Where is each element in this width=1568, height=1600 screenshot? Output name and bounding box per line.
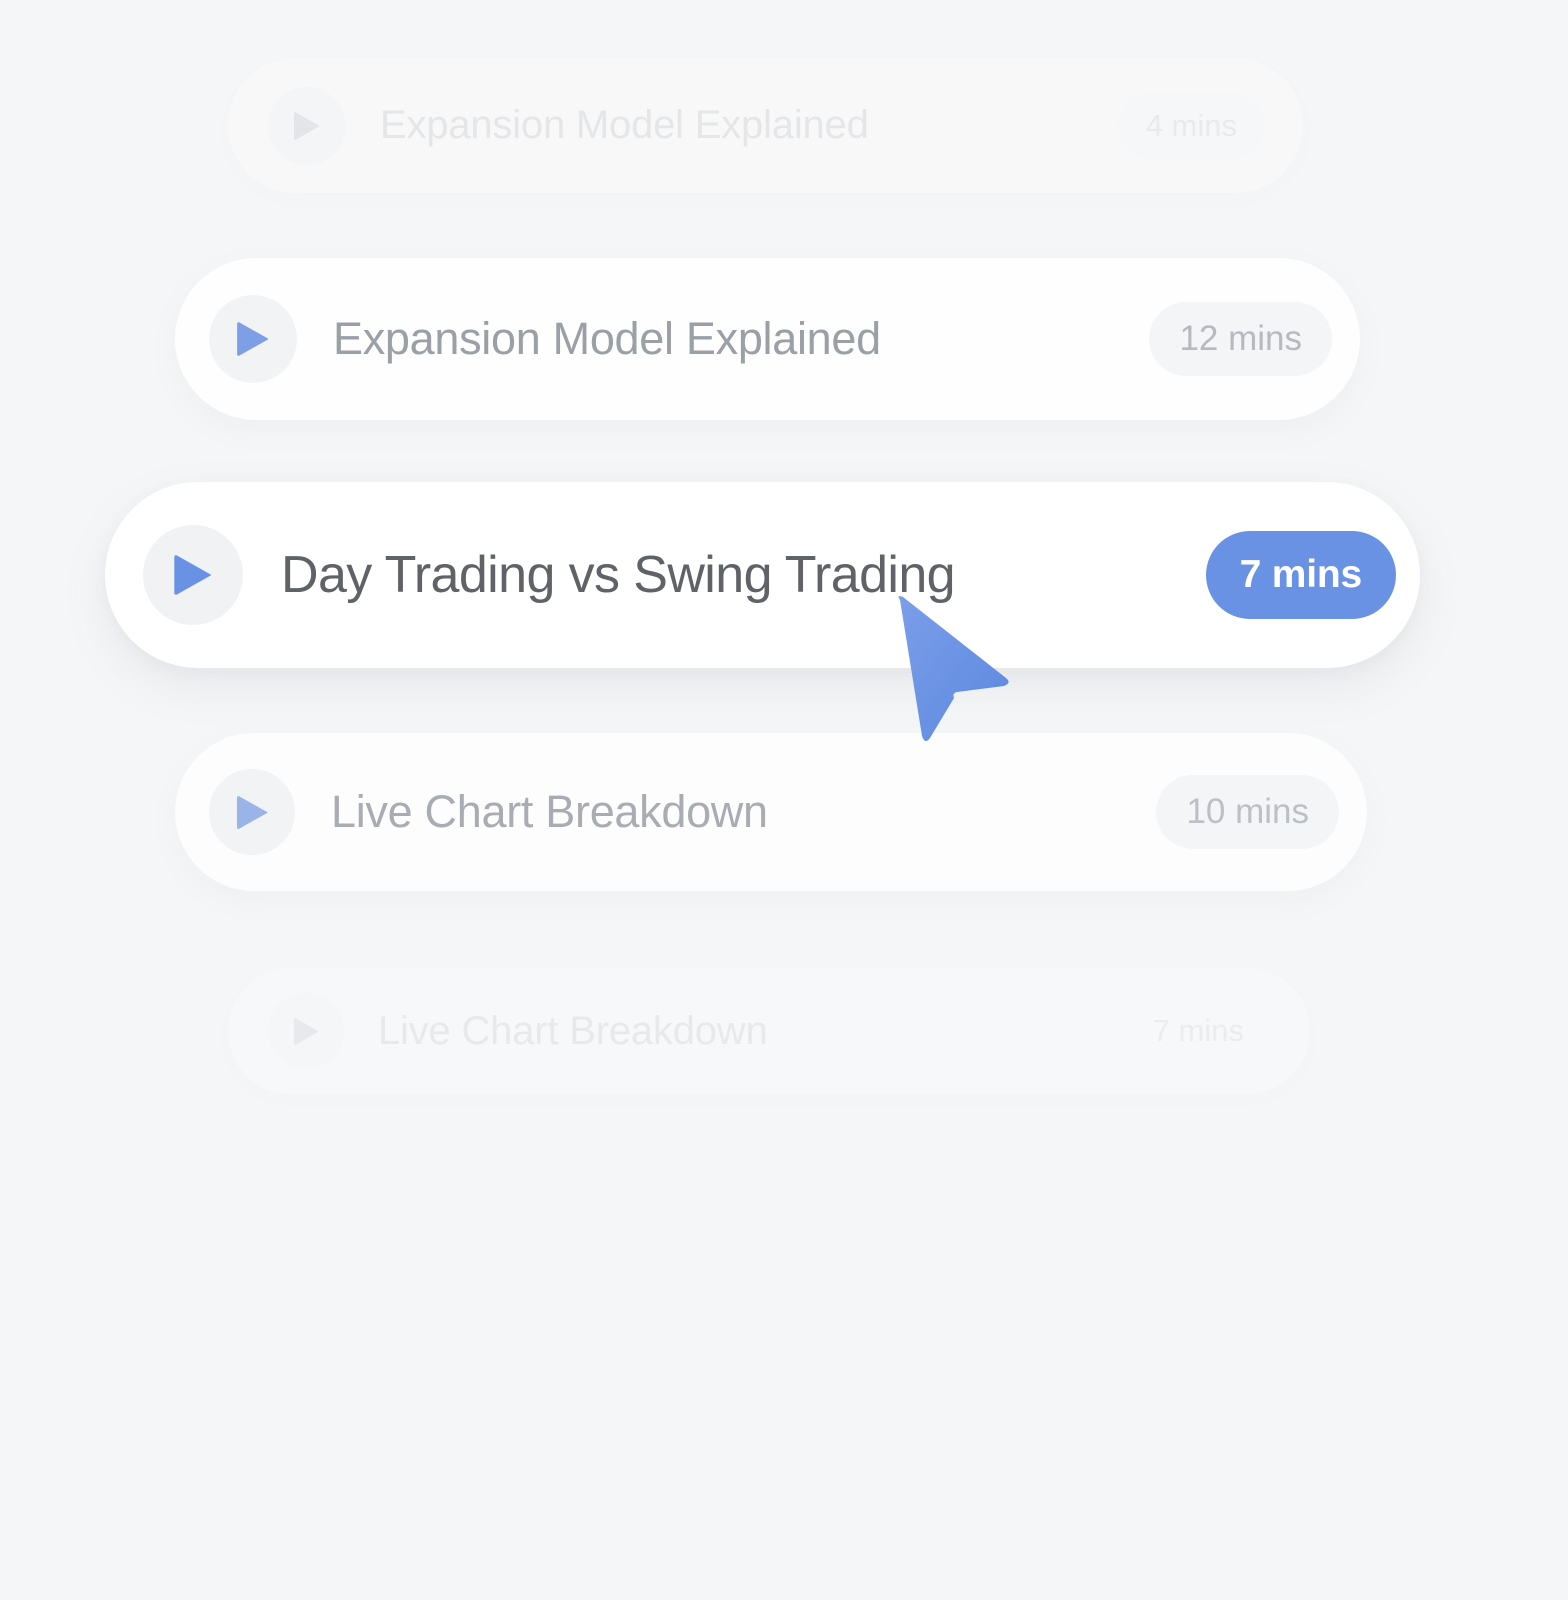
play-triangle-icon: [291, 108, 323, 144]
play-triangle-icon: [291, 1014, 322, 1049]
lesson-row-live-chart-breakdown-10[interactable]: Live Chart Breakdown 10 mins: [175, 733, 1367, 891]
lesson-row-expansion-model-12[interactable]: Expansion Model Explained 12 mins: [175, 258, 1360, 420]
duration-badge-active: 7 mins: [1206, 531, 1396, 619]
lesson-title: Expansion Model Explained: [380, 103, 1118, 148]
play-button-ghost-top[interactable]: [268, 87, 346, 165]
play-button-day-trading-vs-swing-trading[interactable]: [143, 525, 243, 625]
lesson-title: Live Chart Breakdown: [378, 1009, 1125, 1054]
lesson-row-day-trading-vs-swing-trading[interactable]: Day Trading vs Swing Trading 7 mins: [105, 482, 1420, 668]
lesson-title: Expansion Model Explained: [333, 313, 1149, 365]
lesson-title: Live Chart Breakdown: [331, 786, 1156, 838]
lesson-list: Expansion Model Explained 4 mins Expansi…: [0, 0, 1568, 1600]
duration-badge: 4 mins: [1118, 93, 1265, 159]
lesson-row-ghost-top[interactable]: Expansion Model Explained 4 mins: [228, 58, 1303, 193]
lesson-row-ghost-bottom[interactable]: Live Chart Breakdown 7 mins: [228, 968, 1310, 1094]
duration-badge: 12 mins: [1149, 302, 1332, 376]
play-button-expansion-model-12[interactable]: [209, 295, 297, 383]
duration-badge: 7 mins: [1125, 999, 1272, 1063]
play-triangle-icon: [233, 791, 272, 834]
lesson-title: Day Trading vs Swing Trading: [281, 545, 1206, 605]
play-button-ghost-bottom[interactable]: [268, 993, 344, 1069]
play-triangle-icon: [233, 317, 273, 361]
play-triangle-icon: [170, 549, 216, 601]
play-button-live-chart-breakdown-10[interactable]: [209, 769, 295, 855]
duration-badge: 10 mins: [1156, 775, 1339, 849]
